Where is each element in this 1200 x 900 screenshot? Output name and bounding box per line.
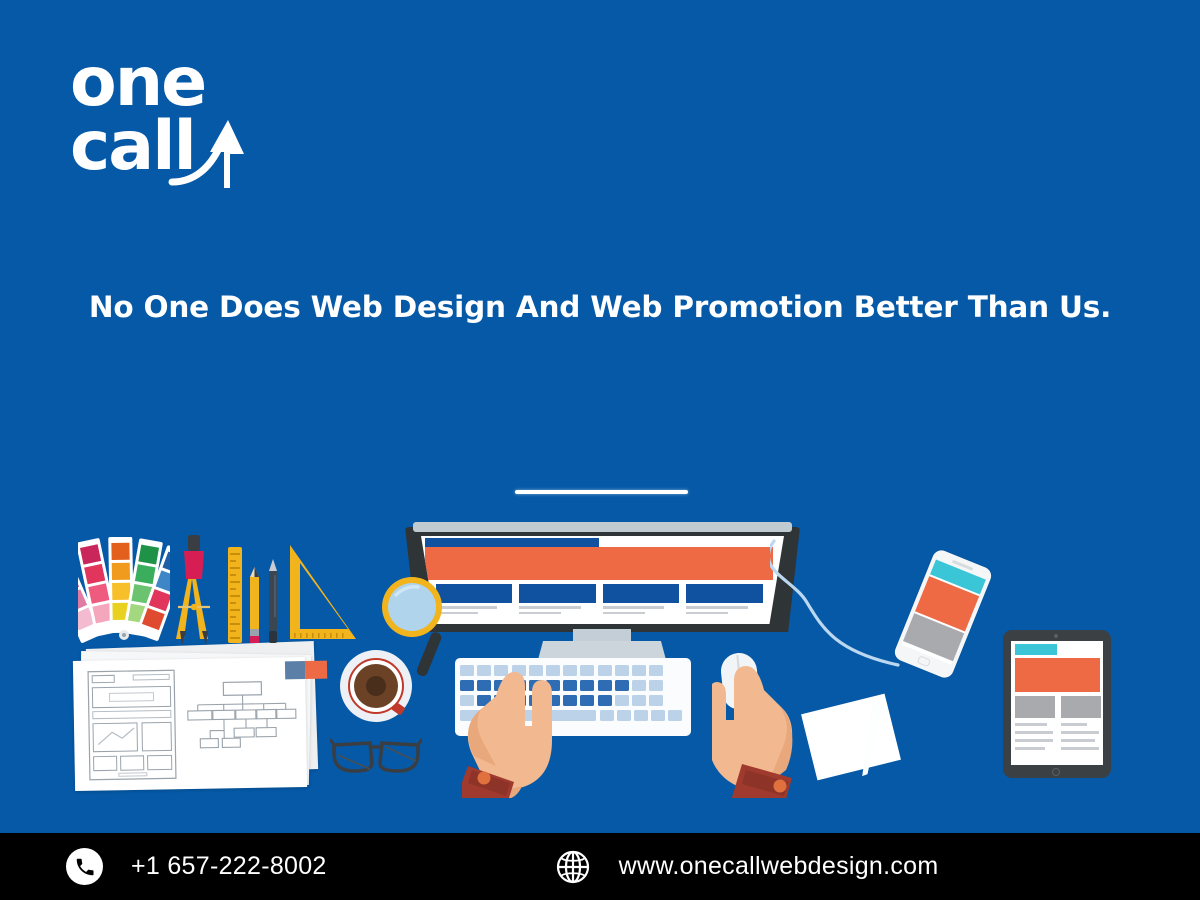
tablet-nav-bar <box>1015 644 1057 655</box>
tablet-text-line <box>1015 723 1047 726</box>
screen-text-line <box>519 606 581 609</box>
promotional-banner: one call No One Does Web Design And Web … <box>0 0 1200 900</box>
monitor-bevel <box>413 522 792 532</box>
paper-sheet <box>73 657 307 791</box>
headline-text: No One Does Web Design And Web Promotion… <box>0 290 1200 324</box>
screen-text-line <box>686 606 748 609</box>
screen-nav-bar <box>425 538 599 547</box>
left-hand <box>462 670 574 798</box>
screen-thumbnail <box>519 584 596 603</box>
fine-liner-pen <box>268 559 278 643</box>
phone-handset-icon <box>66 848 103 885</box>
tablet-text-line <box>1015 731 1053 734</box>
workspace-illustration <box>0 455 1200 833</box>
tablet-text-line <box>1061 731 1099 734</box>
phone-number-text: +1 657-222-8002 <box>131 852 327 881</box>
desk-shelf-line <box>515 490 688 494</box>
tablet-camera <box>1054 634 1058 638</box>
wireframe-papers <box>70 645 320 793</box>
notepad-sheet <box>801 694 901 781</box>
arrow-swoosh-icon <box>158 112 268 192</box>
tablet <box>1003 630 1111 778</box>
screen-thumbnail <box>603 584 680 603</box>
tablet-home-button <box>1052 768 1060 776</box>
website-url-text: www.onecallwebdesign.com <box>619 852 939 881</box>
screen-column <box>519 584 596 614</box>
coffee-cup <box>340 650 412 722</box>
phone-home-button <box>917 655 931 667</box>
pencil <box>250 567 259 643</box>
tablet-text-line <box>1061 723 1087 726</box>
ruler <box>228 547 242 643</box>
cup-coffee-center <box>366 676 386 696</box>
screen-column <box>686 584 763 614</box>
sticky-note-orange <box>305 661 327 679</box>
contact-footer-bar: +1 657-222-8002 www.onecallwebdesign.com <box>0 833 1200 900</box>
tablet-text-line <box>1015 739 1053 742</box>
screen-thumbnail <box>686 584 763 603</box>
screen-text-line <box>603 612 645 615</box>
notepad-with-pen <box>808 703 894 775</box>
tablet-text-line <box>1015 747 1045 750</box>
tablet-hero-banner <box>1015 658 1100 692</box>
company-logo[interactable]: one call <box>70 55 270 200</box>
desktop-monitor <box>405 517 800 642</box>
screen-text-line <box>686 612 728 615</box>
eyeglasses <box>330 733 422 775</box>
screen-column <box>603 584 680 614</box>
color-swatch-fan <box>78 537 170 645</box>
tablet-text-line <box>1061 747 1099 750</box>
sitemap-diagram <box>185 679 298 767</box>
set-square-triangle <box>286 543 358 643</box>
tablet-content-block <box>1015 696 1055 718</box>
tablet-screen <box>1011 641 1103 765</box>
footer-phone-contact[interactable]: +1 657-222-8002 <box>66 848 327 885</box>
footer-website-contact[interactable]: www.onecallwebdesign.com <box>555 849 939 885</box>
tablet-text-line <box>1061 739 1095 742</box>
tablet-content-block <box>1061 696 1101 718</box>
compass-tool <box>168 535 220 645</box>
wireframe-sketch <box>87 669 177 781</box>
screen-text-line <box>603 606 665 609</box>
screen-hero-banner <box>425 547 773 580</box>
right-hand <box>712 660 800 798</box>
logo-text-one: one <box>70 55 205 111</box>
monitor-screen <box>421 536 784 624</box>
globe-icon <box>555 849 591 885</box>
sticky-note-blue <box>285 661 305 679</box>
screen-text-line <box>519 612 561 615</box>
